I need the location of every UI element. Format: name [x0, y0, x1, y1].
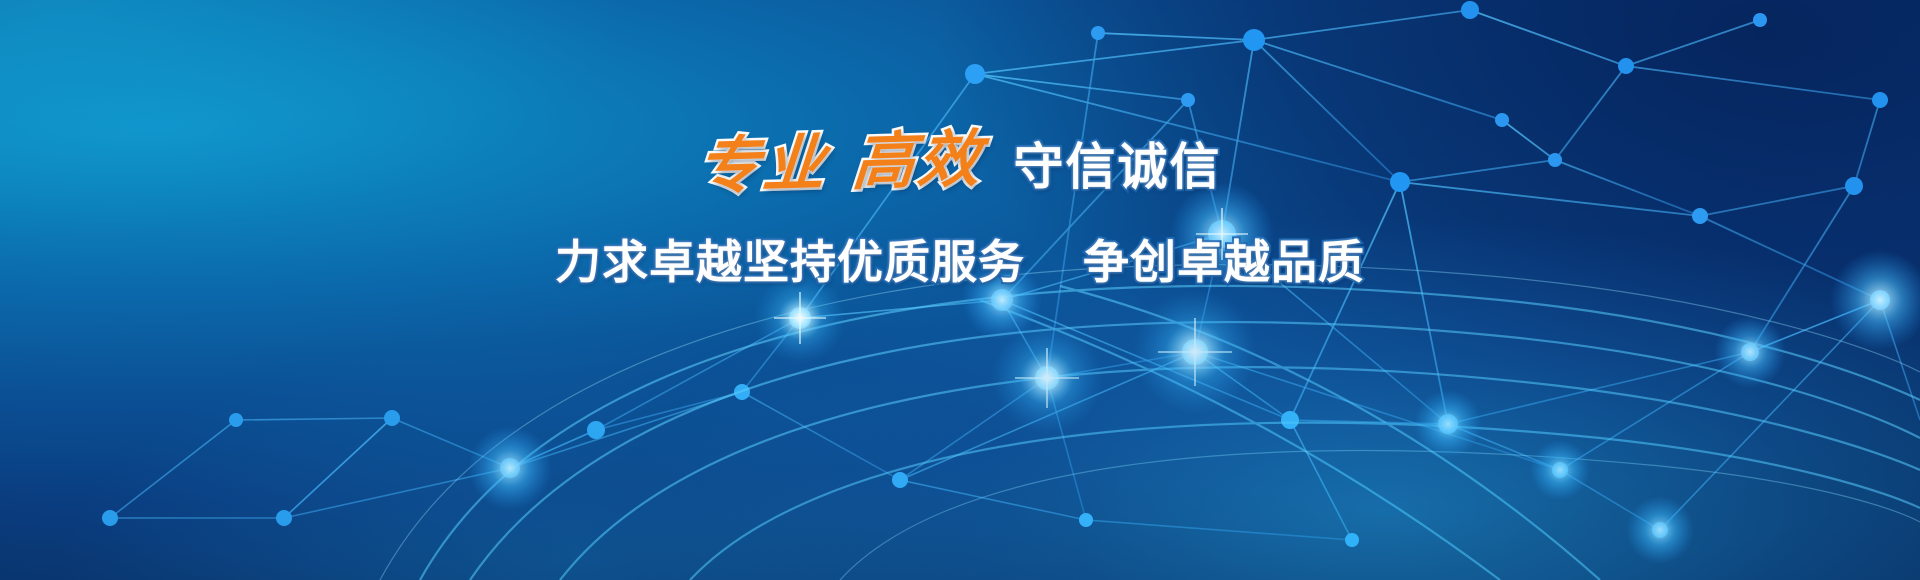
promo-banner: 专业 高效 守信诚信 力求卓越坚持优质服务 争创卓越品质 [0, 0, 1920, 580]
background-vignette [0, 0, 1920, 580]
